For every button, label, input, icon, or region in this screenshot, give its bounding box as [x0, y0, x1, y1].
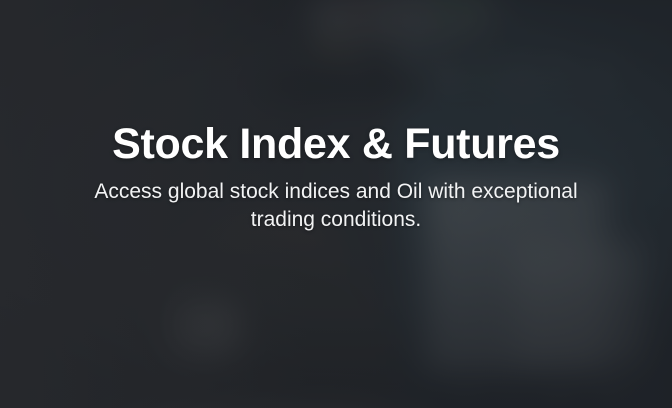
- page-subtitle: Access global stock indices and Oil with…: [71, 178, 601, 234]
- page-title: Stock Index & Futures: [36, 118, 636, 170]
- hero-banner: Stock Index & Futures Access global stoc…: [0, 0, 672, 408]
- hero-copy-block: Stock Index & Futures Access global stoc…: [0, 118, 672, 234]
